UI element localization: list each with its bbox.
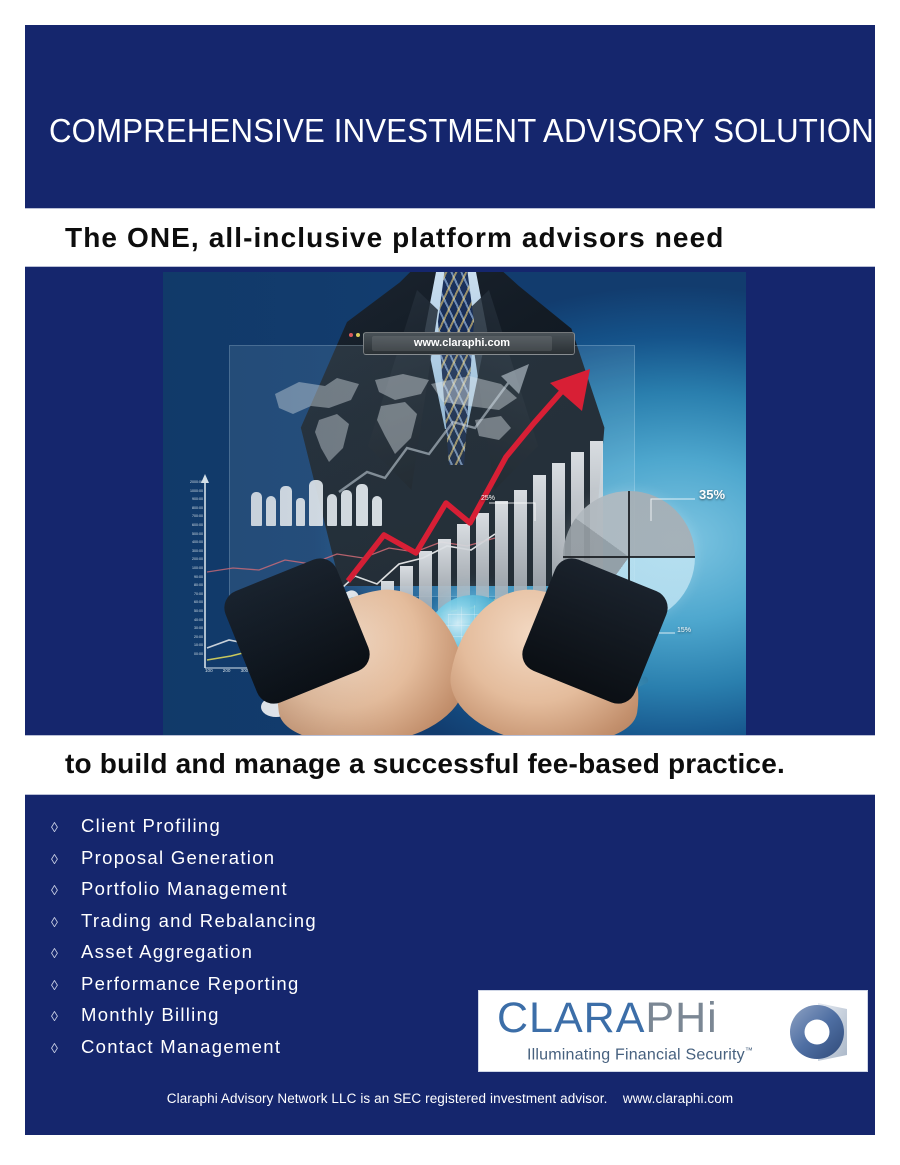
list-item: ◊ Monthly Billing — [47, 1004, 487, 1036]
flyer-page: COMPREHENSIVE INVESTMENT ADVISORY SOLUTI… — [25, 25, 875, 1135]
hero-image: www.claraphi.com — [163, 272, 746, 735]
list-item: ◊ Contact Management — [47, 1036, 487, 1068]
list-item: ◊ Portfolio Management — [47, 878, 487, 910]
diamond-bullet-icon: ◊ — [47, 851, 81, 867]
list-item: ◊ Asset Aggregation — [47, 941, 487, 973]
service-label: Performance Reporting — [81, 973, 300, 995]
services-list: ◊ Client Profiling ◊ Proposal Generation… — [47, 815, 487, 1067]
diamond-bullet-icon: ◊ — [47, 1008, 81, 1024]
diamond-bullet-icon: ◊ — [47, 1040, 81, 1056]
logo-word-clara: CLARA — [497, 994, 645, 1042]
service-label: Portfolio Management — [81, 878, 288, 900]
logo-wordmark: CLARAPHi — [497, 997, 718, 1040]
list-item: ◊ Proposal Generation — [47, 847, 487, 879]
footer: Claraphi Advisory Network LLC is an SEC … — [25, 1080, 875, 1135]
logo-tagline-text: Illuminating Financial Security — [527, 1046, 745, 1063]
diamond-bullet-icon: ◊ — [47, 882, 81, 898]
logo-tagline: Illuminating Financial Security™ — [527, 1046, 753, 1064]
trademark-symbol: ™ — [745, 1046, 753, 1055]
diamond-bullet-icon: ◊ — [47, 914, 81, 930]
diamond-bullet-icon: ◊ — [47, 977, 81, 993]
title-band: COMPREHENSIVE INVESTMENT ADVISORY SOLUTI… — [25, 25, 875, 208]
service-label: Contact Management — [81, 1036, 281, 1058]
subheadline-text: to build and manage a successful fee-bas… — [65, 748, 785, 780]
service-label: Asset Aggregation — [81, 941, 253, 963]
headline-band: The ONE, all-inclusive platform advisors… — [25, 208, 875, 267]
browser-url-text: www.claraphi.com — [372, 336, 552, 351]
subheadline-band: to build and manage a successful fee-bas… — [25, 735, 875, 795]
y-axis-tick-labels: 2000:001000:00900:00800:00700:00 600:005… — [177, 478, 203, 658]
service-label: Client Profiling — [81, 815, 221, 837]
logo-box: CLARAPHi Illuminating Financial Security… — [478, 990, 868, 1072]
service-label: Proposal Generation — [81, 847, 275, 869]
list-item: ◊ Client Profiling — [47, 815, 487, 847]
service-label: Monthly Billing — [81, 1004, 220, 1026]
page-title: COMPREHENSIVE INVESTMENT ADVISORY SOLUTI… — [49, 115, 802, 149]
footer-disclaimer: Claraphi Advisory Network LLC is an SEC … — [167, 1091, 608, 1106]
footer-website[interactable]: www.claraphi.com — [623, 1091, 733, 1106]
logo-word-phi: PHi — [645, 994, 717, 1042]
diamond-bullet-icon: ◊ — [47, 945, 81, 961]
claraphi-circle-icon — [785, 999, 851, 1065]
headline-text: The ONE, all-inclusive platform advisors… — [65, 220, 724, 256]
service-label: Trading and Rebalancing — [81, 910, 317, 932]
list-item: ◊ Trading and Rebalancing — [47, 910, 487, 942]
diamond-bullet-icon: ◊ — [47, 819, 81, 835]
list-item: ◊ Performance Reporting — [47, 973, 487, 1005]
